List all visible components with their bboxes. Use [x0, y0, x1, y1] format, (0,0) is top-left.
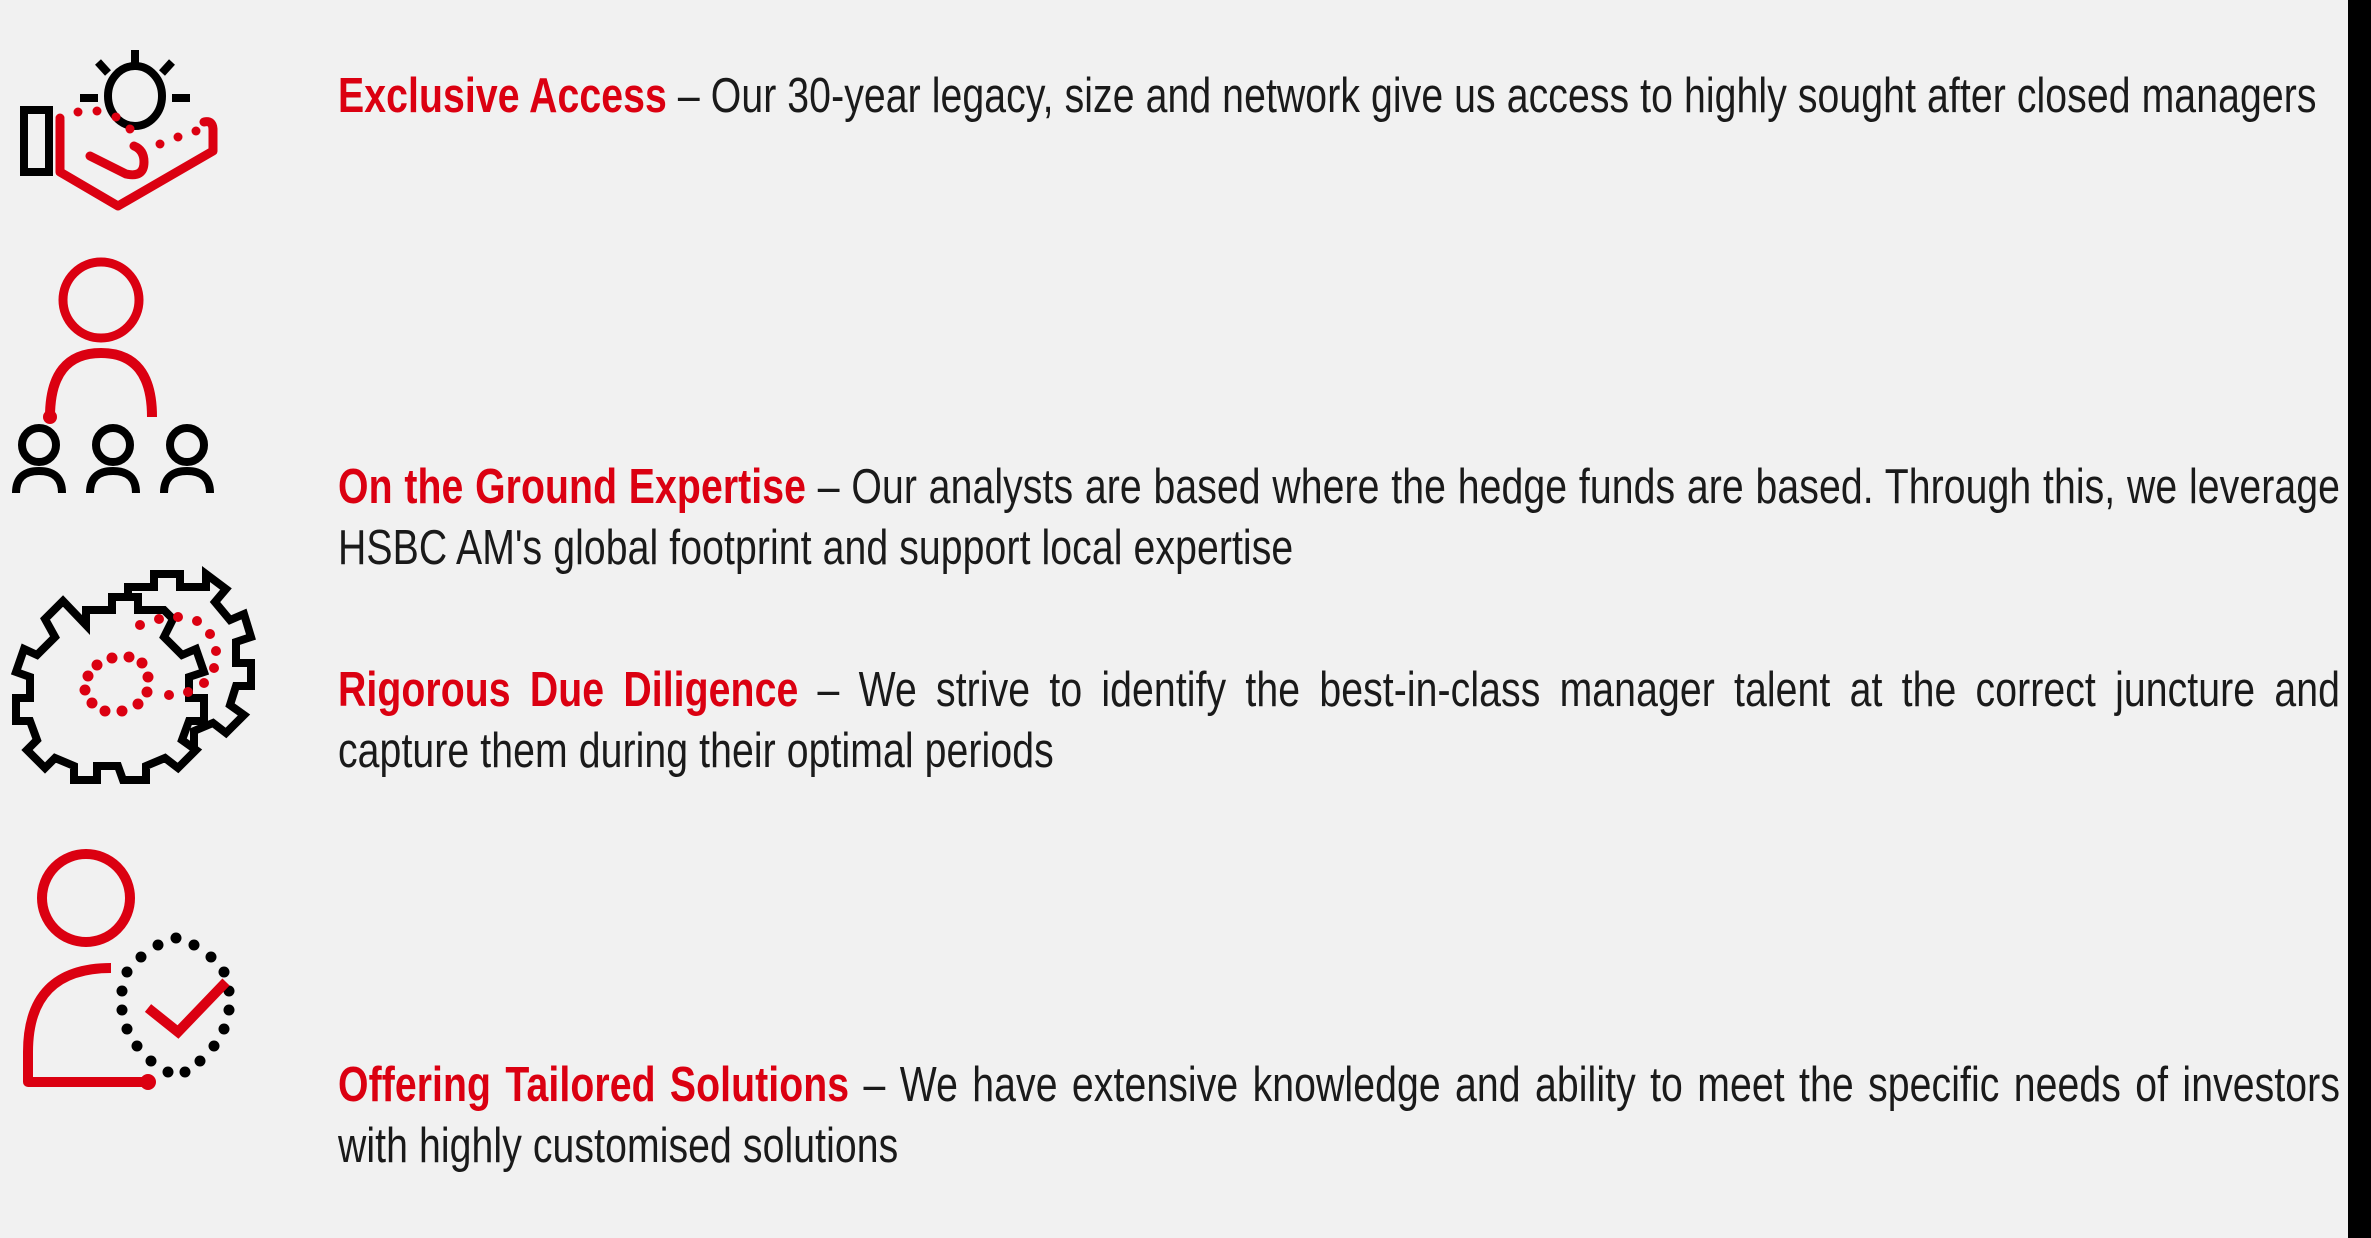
bullet-headline: Rigorous Due Diligence — [338, 663, 798, 717]
icon-cell — [0, 545, 338, 760]
text-cell: Exclusive Access – Our 30-year legacy, s… — [338, 48, 2348, 127]
hand-lightbulb-icon — [8, 48, 258, 218]
icon-cell — [0, 245, 338, 460]
text-cell: Offering Tailored Solutions – We have ex… — [338, 840, 2348, 1177]
bullet-item-due-diligence: Rigorous Due Diligence – We strive to id… — [0, 545, 2348, 760]
bullet-text: Offering Tailored Solutions – We have ex… — [338, 1055, 2340, 1177]
bullet-dash: – — [864, 1058, 886, 1112]
bullet-text: Exclusive Access – Our 30-year legacy, s… — [338, 66, 2340, 127]
icon-cell — [0, 48, 338, 238]
bullet-dash: – — [818, 460, 840, 514]
bullet-text: Rigorous Due Diligence – We strive to id… — [338, 660, 2340, 782]
bullet-list: Exclusive Access – Our 30-year legacy, s… — [0, 0, 2348, 1238]
bullet-headline: Offering Tailored Solutions — [338, 1058, 849, 1112]
gears-icon — [8, 545, 258, 795]
text-cell: On the Ground Expertise – Our analysts a… — [338, 245, 2348, 579]
bullet-dash: – — [818, 663, 840, 717]
person-checkmark-icon — [8, 840, 258, 1090]
text-cell: Rigorous Due Diligence – We strive to id… — [338, 545, 2348, 782]
slide-root: Exclusive Access – Our 30-year legacy, s… — [0, 0, 2371, 1238]
bullet-item-ground-expertise: On the Ground Expertise – Our analysts a… — [0, 245, 2348, 460]
bullet-headline: Exclusive Access — [338, 69, 667, 123]
icon-cell — [0, 840, 338, 1055]
bullet-headline: On the Ground Expertise — [338, 460, 806, 514]
bullet-item-exclusive-access: Exclusive Access – Our 30-year legacy, s… — [0, 48, 2348, 238]
bullet-dash: – — [678, 69, 700, 123]
people-group-icon — [8, 245, 258, 495]
bullet-item-tailored-solutions: Offering Tailored Solutions – We have ex… — [0, 840, 2348, 1055]
bullet-body: Our 30-year legacy, size and network giv… — [700, 69, 2317, 123]
right-edge-band — [2348, 0, 2371, 1238]
